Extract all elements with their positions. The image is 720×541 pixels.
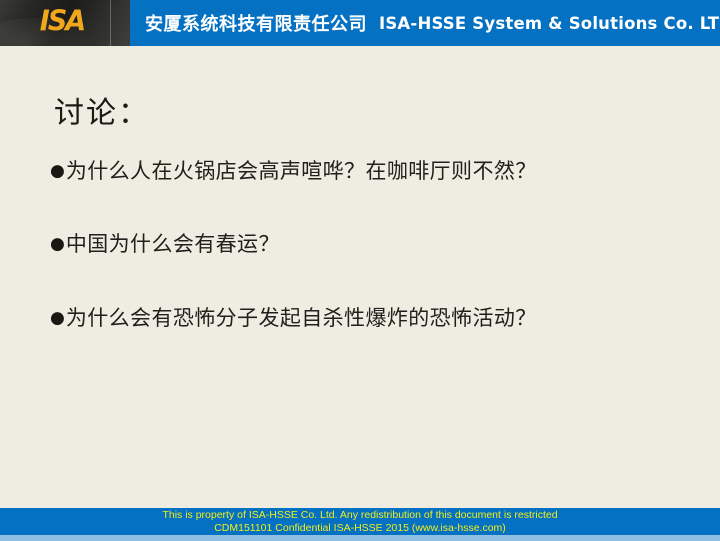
bullet-text: 为什么会有恐怖分子发起自杀性爆炸的恐怖活动？ — [66, 305, 680, 331]
bullet-text: 中国为什么会有春运？ — [66, 231, 680, 257]
slide-footer: This is property of ISA-HSSE Co. Ltd. An… — [0, 508, 720, 535]
list-item: ● 为什么会有恐怖分子发起自杀性爆炸的恐怖活动？ — [50, 305, 680, 331]
isa-logo-icon: ISA — [26, 6, 98, 38]
bullet-text: 为什么人在火锅店会高声喧哗？在咖啡厅则不然？ — [66, 158, 680, 184]
footer-document-line: CDM151101 Confidential ISA-HSSE 2015 (ww… — [0, 522, 720, 535]
presentation-slide: ISA 安厦系统科技有限责任公司 ISA-HSSE System & Solut… — [0, 0, 720, 541]
logo-panel: ISA — [0, 0, 130, 46]
bullet-dot-icon: ● — [50, 231, 65, 257]
bullet-dot-icon: ● — [50, 158, 65, 184]
footer-accent-strip — [0, 535, 720, 541]
slide-body: 讨论： ● 为什么人在火锅店会高声喧哗？在咖啡厅则不然？ ● 中国为什么会有春运… — [0, 46, 720, 508]
company-name-en: ISA-HSSE System & Solutions Co. LTD — [379, 14, 720, 33]
list-item: ● 中国为什么会有春运？ — [50, 231, 680, 257]
footer-copyright-line: This is property of ISA-HSSE Co. Ltd. An… — [0, 509, 720, 522]
header-title-group: 安厦系统科技有限责任公司 ISA-HSSE System & Solutions… — [145, 0, 720, 46]
page-title: 讨论： — [54, 88, 150, 132]
bullet-list: ● 为什么人在火锅店会高声喧哗？在咖啡厅则不然？ ● 中国为什么会有春运？ ● … — [50, 158, 680, 378]
company-name-cn: 安厦系统科技有限责任公司 — [145, 10, 367, 36]
bullet-dot-icon: ● — [50, 305, 65, 331]
list-item: ● 为什么人在火锅店会高声喧哗？在咖啡厅则不然？ — [50, 158, 680, 184]
slide-header: ISA 安厦系统科技有限责任公司 ISA-HSSE System & Solut… — [0, 0, 720, 46]
